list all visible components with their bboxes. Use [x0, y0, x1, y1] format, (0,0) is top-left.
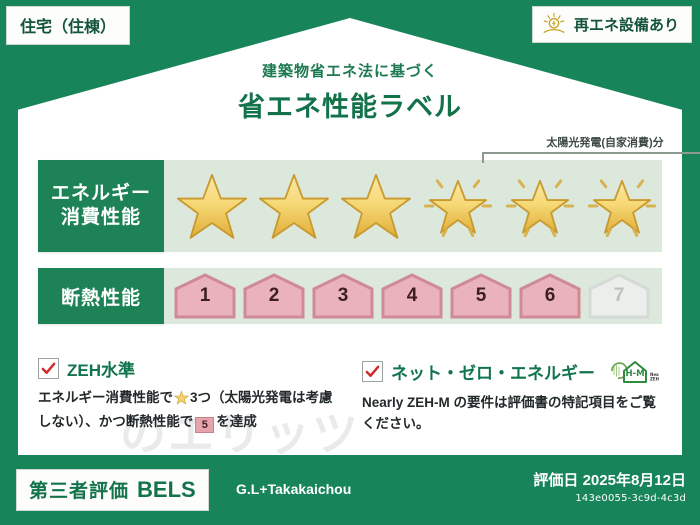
- energy-performance-row: エネルギー 消費性能: [38, 160, 662, 252]
- insulation-level-2-num: 2: [241, 285, 307, 307]
- bels-certification-badge: 第三者評価 BELS: [16, 469, 209, 511]
- star-4-solar: [418, 167, 498, 245]
- inline-level-badge: 5: [195, 417, 214, 433]
- insulation-blocks-panel: 1 2 3 4 5: [164, 268, 662, 324]
- insulation-level-3-num: 3: [310, 285, 376, 307]
- title-subtitle: 建築物省エネ法に基づく: [0, 60, 700, 81]
- svg-text:ZEH-M: ZEH-M: [650, 377, 659, 382]
- evaluation-date-value: 2025年8月12日: [583, 472, 686, 489]
- energy-stars-panel: 太陽光発電(自家消費)分: [164, 160, 662, 252]
- renewable-badge-label: 再エネ設備あり: [574, 14, 679, 35]
- star-3: [336, 167, 416, 245]
- insulation-level-scale: 1 2 3 4 5: [164, 273, 652, 319]
- building-name: G.L+Takakaichou: [236, 481, 351, 497]
- inline-star-icon: [174, 390, 189, 412]
- dwelling-type-tag: 住宅（住棟）: [6, 6, 130, 45]
- bels-energy-label: のエリッツ 住宅（住棟） 再エネ設備あり 建築物省エネ法に基づく 省エネ性能ラベ…: [0, 0, 700, 525]
- bels-jp-label: 第三者評価: [29, 476, 129, 503]
- evaluation-id: 143e0055-3c9d-4c3d: [533, 493, 686, 504]
- zeh-standard-body: エネルギー消費性能で3つ（太陽光発電は考慮しない）、かつ断熱性能で5を達成: [38, 388, 338, 433]
- evaluation-date-label: 評価日: [533, 472, 578, 489]
- energy-label-line2: 消費性能: [61, 206, 141, 230]
- net-zero-header: ネット・ゼロ・エネルギー H-M Nearly ZEH-M: [362, 356, 662, 386]
- insulation-level-6: 6: [517, 273, 583, 319]
- energy-label-line1: エネルギー: [51, 182, 151, 206]
- bels-en-label: BELS: [137, 477, 196, 503]
- insulation-label-text: 断熱性能: [61, 283, 141, 310]
- zeh-standard-section: ZEH水準 エネルギー消費性能で3つ（太陽光発電は考慮しない）、かつ断熱性能で5…: [38, 356, 338, 433]
- insulation-level-1: 1: [172, 273, 238, 319]
- label-footer: 第三者評価 BELS G.L+Takakaichou 評価日 2025年8月12…: [0, 457, 700, 525]
- solar-contribution-annotation: 太陽光発電(自家消費)分: [482, 134, 700, 163]
- star-2: [254, 167, 334, 245]
- solar-annotation-label: 太陽光発電(自家消費)分: [482, 134, 700, 150]
- zeh-standard-header: ZEH水準: [38, 356, 338, 381]
- insulation-level-4-num: 4: [379, 285, 445, 307]
- zeh-m-logo-icon: H-M Nearly ZEH-M: [603, 356, 659, 386]
- evaluation-info: 評価日 2025年8月12日 143e0055-3c9d-4c3d: [533, 469, 686, 504]
- renewable-equipment-badge: 再エネ設備あり: [532, 6, 692, 43]
- net-zero-body: Nearly ZEH-M の要件は評価書の特記項目をご覧ください。: [362, 393, 662, 435]
- insulation-level-6-num: 6: [517, 285, 583, 307]
- sun-icon: [541, 12, 567, 36]
- energy-performance-label: エネルギー 消費性能: [38, 160, 164, 252]
- insulation-level-5: 5: [448, 273, 514, 319]
- solar-bracket: [482, 152, 700, 163]
- insulation-performance-row: 断熱性能 1 2 3 4: [38, 268, 662, 324]
- zeh-body-part3: を達成: [216, 414, 257, 429]
- insulation-level-3: 3: [310, 273, 376, 319]
- title-main: 省エネ性能ラベル: [0, 85, 700, 124]
- insulation-performance-label: 断熱性能: [38, 268, 164, 324]
- label-title: 建築物省エネ法に基づく 省エネ性能ラベル: [0, 60, 700, 124]
- checkbox-checked-icon: [362, 361, 383, 382]
- insulation-level-7-num: 7: [586, 285, 652, 307]
- evaluation-date: 評価日 2025年8月12日: [533, 469, 686, 490]
- insulation-level-7: 7: [586, 273, 652, 319]
- star-1: [172, 167, 252, 245]
- checkbox-checked-icon: [38, 358, 59, 379]
- zeh-standard-title: ZEH水準: [67, 356, 135, 381]
- zeh-body-part1: エネルギー消費性能で: [38, 390, 173, 405]
- insulation-level-1-num: 1: [172, 285, 238, 307]
- insulation-level-5-num: 5: [448, 285, 514, 307]
- svg-text:H-M: H-M: [625, 369, 644, 379]
- star-rating: [164, 167, 662, 245]
- star-6-solar: [582, 167, 662, 245]
- net-zero-title: ネット・ゼロ・エネルギー: [391, 359, 595, 384]
- net-zero-energy-section: ネット・ゼロ・エネルギー H-M Nearly ZEH-M Nearly ZEH…: [362, 356, 662, 435]
- insulation-level-4: 4: [379, 273, 445, 319]
- insulation-level-2: 2: [241, 273, 307, 319]
- star-5-solar: [500, 167, 580, 245]
